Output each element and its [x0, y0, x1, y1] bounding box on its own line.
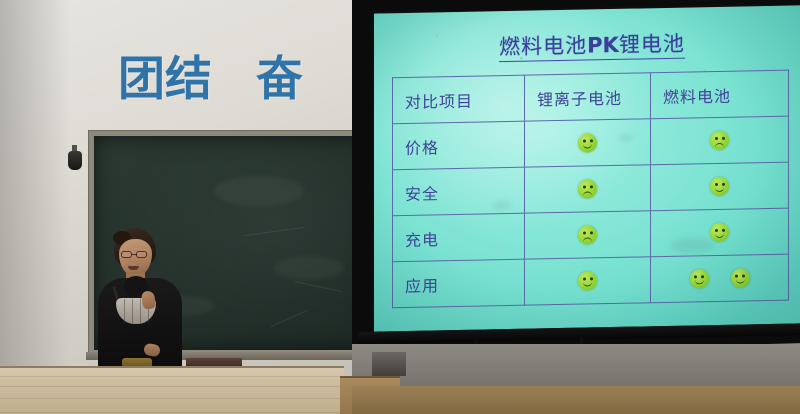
- slide-title-part1: 燃料电池: [499, 33, 587, 59]
- slide-title: 燃料电池PK锂电池: [374, 25, 800, 63]
- slide-title-pk: PK: [587, 33, 619, 58]
- row-label-application: 应用: [393, 259, 525, 308]
- cell-charging-fuelcell: [651, 208, 789, 257]
- table-row: 充电: [393, 208, 789, 262]
- row-label-charging: 充电: [393, 213, 525, 262]
- sad-face-icon: [710, 131, 729, 150]
- cell-application-lithium: [525, 257, 651, 305]
- table-row: 安全: [393, 162, 789, 216]
- presentation-slide: 燃料电池PK锂电池 对比项目 锂离子电池 燃料电池: [374, 5, 800, 331]
- happy-face-icon: [578, 271, 597, 290]
- wall-speaker-icon: [68, 151, 82, 170]
- wall-shadow: [0, 0, 70, 414]
- table-header-row: 对比项目 锂离子电池 燃料电池: [393, 70, 789, 124]
- glasses-icon: [120, 251, 150, 258]
- presenter-figure: [86, 228, 196, 376]
- happy-face-icon: [578, 133, 597, 152]
- classroom-scene: 团 结 奋: [0, 0, 800, 414]
- slogan-char-2: 结: [165, 56, 212, 103]
- happy-face-icon: [731, 268, 750, 287]
- rear-desk: [352, 386, 800, 414]
- slogan-char-1: 团: [118, 56, 165, 103]
- cell-safety-lithium: [525, 165, 651, 213]
- happy-face-icon: [710, 177, 729, 196]
- comparison-table: 对比项目 锂离子电池 燃料电池 价格: [392, 70, 789, 309]
- header-lithium-battery: 锂离子电池: [525, 73, 651, 121]
- sad-face-icon: [578, 179, 597, 198]
- cell-charging-lithium: [525, 211, 651, 259]
- wall-slogan: 团 结 奋: [118, 56, 303, 103]
- header-criteria: 对比项目: [393, 75, 525, 124]
- floor-area: [352, 344, 800, 390]
- equipment-box: [372, 352, 406, 376]
- table-row: 价格: [393, 116, 789, 170]
- happy-face-icon: [690, 269, 709, 288]
- cell-price-fuelcell: [651, 116, 789, 165]
- slide-title-part2: 锂电池: [619, 32, 685, 57]
- cell-price-lithium: [525, 119, 651, 167]
- table-row: 应用: [393, 254, 789, 308]
- front-podium: [0, 366, 344, 414]
- happy-face-icon: [710, 223, 729, 242]
- cell-application-fuelcell: [651, 254, 789, 303]
- cell-safety-fuelcell: [651, 162, 789, 211]
- slogan-char-3: 奋: [256, 56, 303, 103]
- projection-screen[interactable]: 燃料电池PK锂电池 对比项目 锂离子电池 燃料电池: [374, 5, 800, 331]
- projection-screen-frame: 燃料电池PK锂电池 对比项目 锂离子电池 燃料电池: [352, 0, 800, 352]
- row-label-price: 价格: [393, 121, 525, 170]
- row-label-safety: 安全: [393, 167, 525, 216]
- sad-face-icon: [578, 225, 597, 244]
- header-fuel-cell: 燃料电池: [651, 70, 789, 119]
